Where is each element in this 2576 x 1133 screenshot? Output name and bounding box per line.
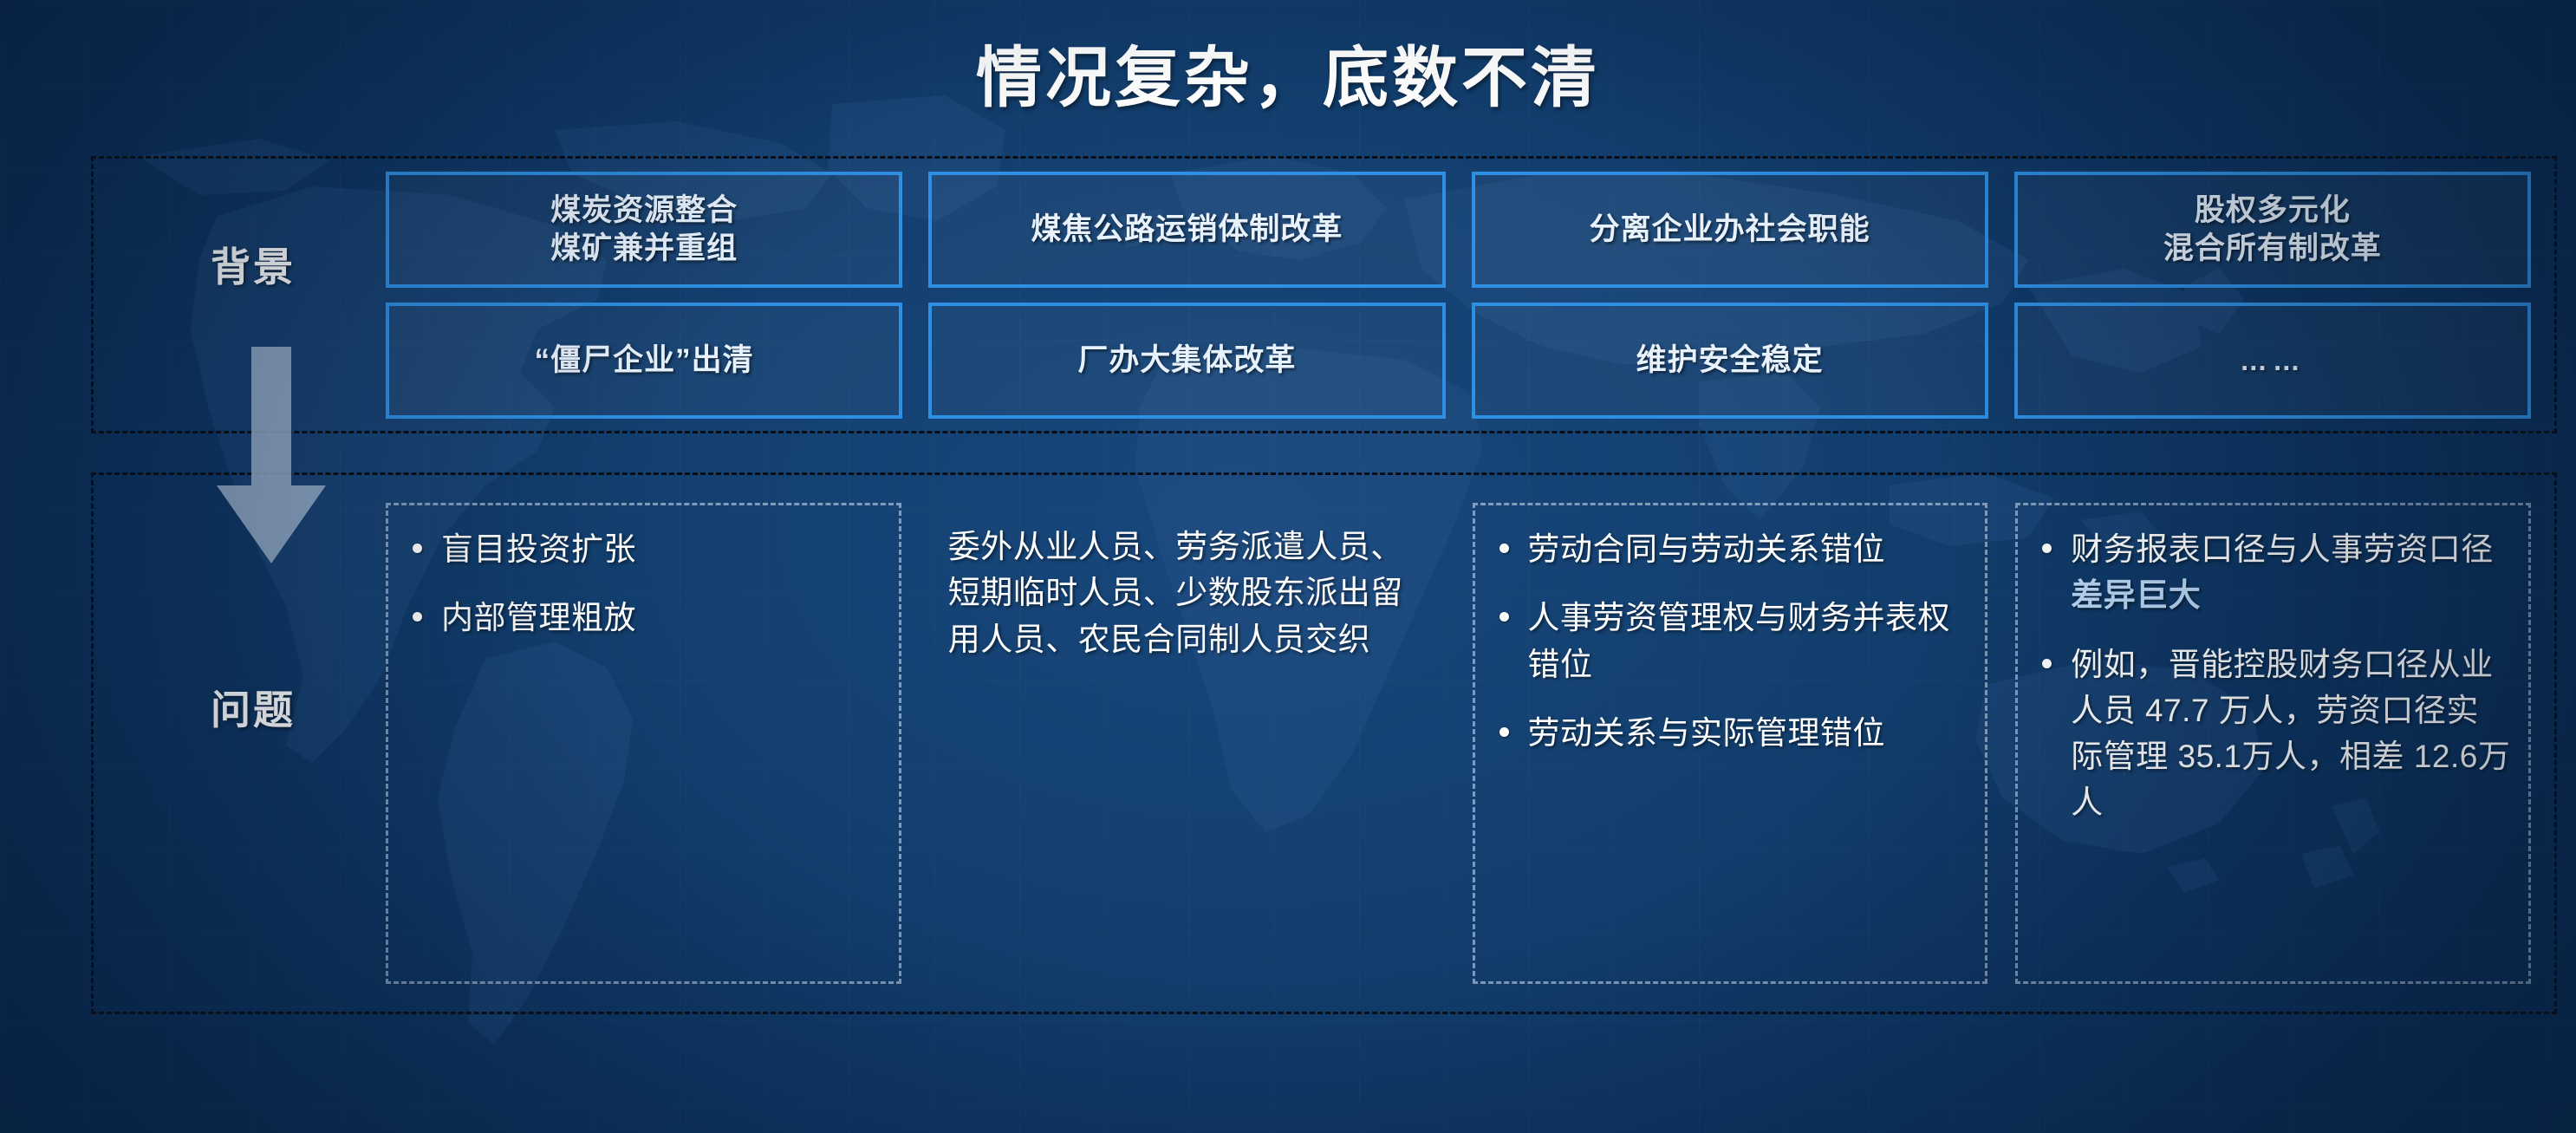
problems-section-label: 问题 [211,679,296,736]
bullet-dot-icon [1499,727,1509,737]
background-box[interactable]: 煤焦公路运销体制改革 [928,172,1445,288]
background-box[interactable]: 维护安全稳定 [1472,303,1988,419]
bullet-dot-icon [413,544,422,553]
problem-paragraph: 委外从业人员、劳务派遣人员、短期临时人员、少数股东派出留用人员、农民合同制人员交… [948,524,1428,662]
list-item: 内部管理粗放 [407,595,881,641]
list-item: 例如，晋能控股财务口径从业人员 47.7 万人，劳资口径实际管理 35.1万人，… [2037,641,2511,826]
problem-column: 委外从业人员、劳务派遣人员、短期临时人员、少数股东派出留用人员、农民合同制人员交… [929,503,1445,984]
background-box[interactable]: 厂办大集体改革 [928,303,1445,419]
background-box-line: 分离企业办社会职能 [1590,211,1870,249]
list-item-label: 劳动关系与实际管理错位 [1528,710,1886,756]
list-item-label: 盲目投资扩张 [441,526,636,572]
list-item-text: 财务报表口径与人事劳资口径 [2071,531,2494,567]
background-box-line: 煤焦公路运销体制改革 [1031,211,1343,249]
bullet-dot-icon [1499,544,1509,553]
bullet-dot-icon [1499,612,1509,622]
background-box[interactable]: …… [2014,303,2531,419]
list-item-label: 例如，晋能控股财务口径从业人员 47.7 万人，劳资口径实际管理 35.1万人，… [2071,641,2511,826]
background-box[interactable]: 煤炭资源整合煤矿兼并重组 [386,172,902,288]
highlighted-text: 差异巨大 [2071,577,2201,613]
problems-columns-grid: 盲目投资扩张内部管理粗放委外从业人员、劳务派遣人员、短期临时人员、少数股东派出留… [386,503,2531,984]
background-box-line: “僵尸企业”出清 [535,342,754,380]
page-title: 情况复杂，底数不清 [0,24,2576,120]
list-item-label: 劳动合同与劳动关系错位 [1528,526,1886,572]
bullet-dot-icon [2042,659,2052,668]
background-box-line: 厂办大集体改革 [1077,342,1296,380]
problem-column: 劳动合同与劳动关系错位人事劳资管理权与财务并表权错位劳动关系与实际管理错位 [1473,503,1988,984]
background-boxes-grid: 煤炭资源整合煤矿兼并重组煤焦公路运销体制改革分离企业办社会职能股权多元化混合所有… [386,172,2531,419]
background-box-line: 股权多元化 [2195,192,2351,230]
background-box[interactable]: “僵尸企业”出清 [386,303,902,419]
list-item: 财务报表口径与人事劳资口径差异巨大 [2037,526,2511,619]
background-box[interactable]: 股权多元化混合所有制改革 [2014,172,2531,288]
background-box-line: 维护安全稳定 [1636,342,1824,380]
list-item: 人事劳资管理权与财务并表权错位 [1494,595,1968,687]
background-section-label: 背景 [211,236,296,293]
list-item-label: 财务报表口径与人事劳资口径差异巨大 [2071,526,2511,619]
list-item: 劳动合同与劳动关系错位 [1494,526,1968,572]
list-item-label: 内部管理粗放 [441,595,636,641]
bullet-dot-icon [413,612,422,622]
list-item-text: 例如，晋能控股财务口径从业人员 47.7 万人，劳资口径实际管理 35.1万人，… [2071,647,2510,821]
problem-column: 财务报表口径与人事劳资口径差异巨大例如，晋能控股财务口径从业人员 47.7 万人… [2015,503,2531,984]
bullet-dot-icon [2042,544,2052,553]
background-box-line: 混合所有制改革 [2163,230,2382,268]
list-item: 劳动关系与实际管理错位 [1494,710,1968,756]
background-box[interactable]: 分离企业办社会职能 [1472,172,1988,288]
background-box-line: 煤矿兼并重组 [550,230,738,268]
list-item: 盲目投资扩张 [407,526,881,572]
list-item-label: 人事劳资管理权与财务并表权错位 [1528,595,1968,687]
background-box-line: …… [2240,343,2306,378]
background-box-line: 煤炭资源整合 [550,192,738,230]
problem-column: 盲目投资扩张内部管理粗放 [386,503,901,984]
